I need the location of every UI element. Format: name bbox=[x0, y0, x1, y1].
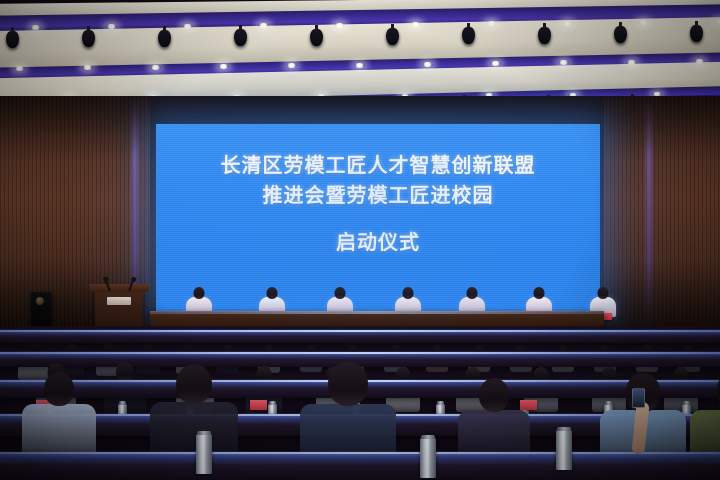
ceiling-downlight-row2 bbox=[218, 64, 229, 69]
vacuum-flask-foreground bbox=[420, 438, 436, 478]
ceiling-downlight-row2 bbox=[14, 66, 25, 71]
stage-light-fixture bbox=[462, 27, 475, 44]
vacuum-flask-foreground bbox=[196, 434, 212, 474]
smartphone bbox=[632, 388, 645, 408]
ceiling-downlight-row2 bbox=[354, 63, 365, 68]
audience-desk-row bbox=[0, 452, 720, 480]
audience-desk-row bbox=[0, 330, 720, 343]
official-head bbox=[267, 287, 278, 299]
audience-member-head bbox=[328, 361, 368, 406]
ceiling-downlight bbox=[638, 20, 649, 25]
official-head bbox=[335, 287, 346, 299]
stage-light-fixture bbox=[6, 31, 19, 48]
vacuum-flask-foreground bbox=[556, 430, 572, 470]
desk-name-card bbox=[250, 400, 267, 410]
ceiling-downlight-row2 bbox=[694, 59, 705, 64]
ceiling-downlight bbox=[182, 24, 193, 29]
stage-light-fixture bbox=[158, 30, 171, 47]
official-head bbox=[598, 287, 609, 299]
led-display-screen: 长清区劳模工匠人才智慧创新联盟 推进会暨劳模工匠进校园 启动仪式 bbox=[156, 124, 600, 311]
podium-top-surface bbox=[89, 284, 149, 292]
ceiling-downlight-row2 bbox=[150, 65, 161, 70]
audience-seating-area bbox=[0, 326, 720, 480]
ceiling-downlight-row2 bbox=[422, 62, 433, 67]
stage-light-fixture bbox=[234, 29, 247, 46]
audience-member-head bbox=[479, 378, 509, 412]
screen-headline-line-3: 启动仪式 bbox=[156, 227, 600, 257]
stage-light-fixture bbox=[614, 26, 627, 43]
ceiling-downlight bbox=[334, 23, 345, 28]
ceiling-downlight-row2 bbox=[626, 60, 637, 65]
official-head bbox=[534, 287, 545, 299]
podium-emblem-plate bbox=[107, 297, 131, 305]
ceiling-downlight bbox=[562, 21, 573, 26]
stage-light-fixture bbox=[386, 28, 399, 45]
official-head bbox=[403, 287, 414, 299]
ceiling-downlight bbox=[410, 22, 421, 27]
conference-hall-photo: 长清区劳模工匠人才智慧创新联盟 推进会暨劳模工匠进校园 启动仪式 bbox=[0, 0, 720, 480]
audience-member-head bbox=[176, 364, 212, 404]
official-head bbox=[194, 287, 205, 299]
screen-headline-line-1: 长清区劳模工匠人才智慧创新联盟 bbox=[156, 150, 600, 180]
ceiling-downlight bbox=[30, 25, 41, 30]
screen-text-block: 长清区劳模工匠人才智慧创新联盟 推进会暨劳模工匠进校园 启动仪式 bbox=[156, 150, 600, 257]
official-head bbox=[467, 287, 478, 299]
desk-front-edge bbox=[0, 352, 720, 354]
screen-headline-line-2: 推进会暨劳模工匠进校园 bbox=[156, 180, 600, 210]
desk-front-edge bbox=[0, 452, 720, 454]
speaker-podium bbox=[95, 289, 143, 329]
audience-member-head bbox=[44, 372, 74, 406]
stage-light-fixture bbox=[310, 29, 323, 46]
audience-member-head bbox=[116, 362, 134, 382]
stage-light-fixture bbox=[82, 30, 95, 47]
desk-front-edge bbox=[0, 330, 720, 332]
stage-light-fixture bbox=[538, 27, 551, 44]
